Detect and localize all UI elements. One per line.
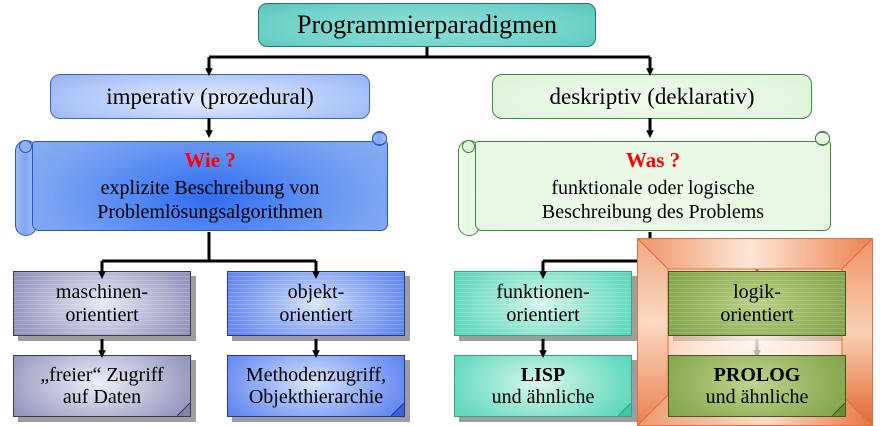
diagram-canvas: Programmierparadigmen imperativ (prozedu… [0, 0, 880, 426]
node-label-line-1: PROLOG [714, 364, 801, 386]
node-label-line-2: orientiert [720, 304, 793, 326]
node-logik-orientiert[interactable]: logik- orientiert [668, 271, 846, 336]
folded-corner-icon [832, 403, 845, 416]
node-label-line-1: logik- [733, 281, 781, 303]
node-prolog[interactable]: PROLOG und ähnliche [668, 355, 846, 417]
node-label-line-2: und ähnliche [706, 386, 809, 408]
